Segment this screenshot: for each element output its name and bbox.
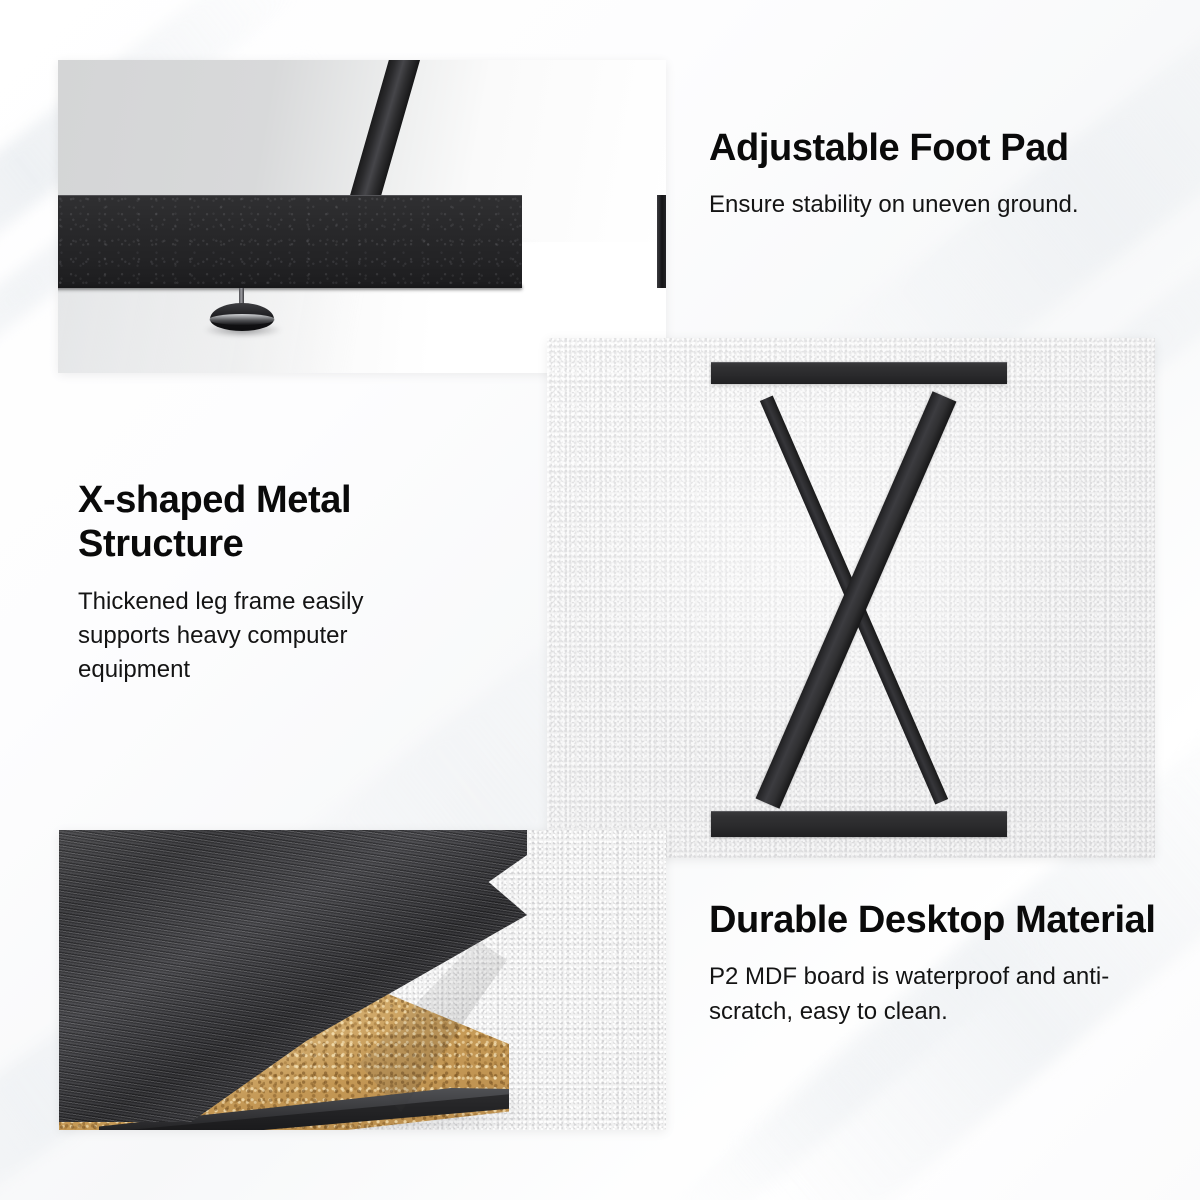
feature-image-durable-desktop-material [59,830,666,1130]
feature-title: X-shaped Metal Structure [78,478,458,567]
feature-title: Durable Desktop Material [709,898,1161,942]
foot-pad-metal-ring [209,314,275,325]
infographic-canvas: Adjustable Foot Pad Ensure stability on … [0,0,1200,1200]
feature-description: Ensure stability on uneven ground. [709,188,1161,222]
x-frame-bottom-bar [711,811,1007,837]
feature-text-durable-desktop-material: Durable Desktop Material P2 MDF board is… [709,898,1161,1029]
feature-image-adjustable-foot-pad [58,60,666,373]
desk-frame-beam [58,195,522,288]
feature-description: P2 MDF board is waterproof and anti-scra… [709,960,1161,1028]
x-frame-top-bar [711,362,1007,384]
beam-end-cap [657,195,666,288]
beam-texture-grain [58,195,522,288]
feature-text-adjustable-foot-pad: Adjustable Foot Pad Ensure stability on … [709,126,1161,223]
feature-title: Adjustable Foot Pad [709,126,1161,170]
feature-text-x-shaped-metal-structure: X-shaped Metal Structure Thickened leg f… [78,478,458,687]
feature-description: Thickened leg frame easily supports heav… [78,585,458,687]
feature-image-x-shaped-metal-structure [547,338,1155,858]
beam-underside-shading [58,286,522,291]
